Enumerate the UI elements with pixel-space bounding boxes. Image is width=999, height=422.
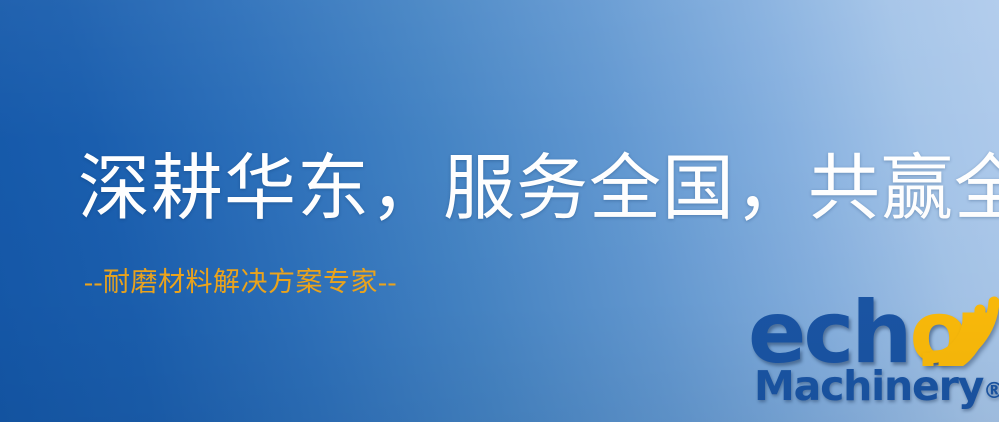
echo-waves-icon [920, 294, 999, 366]
promo-banner: 深耕华东，服务全国，共赢全球 --耐磨材料解决方案专家-- echo Machi… [0, 0, 999, 422]
logo-tagline-text: Machinery [754, 362, 983, 410]
banner-headline: 深耕华东，服务全国，共赢全球 [78, 146, 999, 232]
registered-trademark-icon: ® [983, 379, 999, 404]
banner-subtitle: --耐磨材料解决方案专家-- [84, 265, 397, 299]
logo-tagline: Machinery® [754, 366, 999, 407]
company-logo: echo Machinery® [744, 296, 999, 422]
